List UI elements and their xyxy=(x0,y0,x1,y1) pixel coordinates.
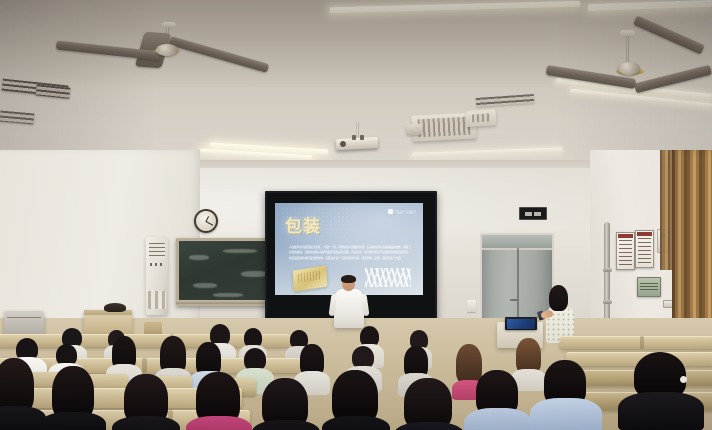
presentation-laptop[interactable] xyxy=(505,317,537,330)
desk-row xyxy=(560,336,712,349)
slide-logo-text: 产品设计 包装设计 xyxy=(394,210,416,214)
clock-hand-minute xyxy=(206,221,214,226)
notice-poster-left xyxy=(616,232,635,270)
chalk-smudge xyxy=(189,255,209,260)
ac-lower-grille xyxy=(148,291,166,309)
wall-green-sign xyxy=(637,277,661,297)
ac-vent-grille xyxy=(149,243,165,259)
exit-sign xyxy=(519,207,547,220)
student-hair xyxy=(456,344,482,384)
desk-seam xyxy=(640,336,644,349)
female-staff-at-podium xyxy=(545,285,575,343)
student-torso xyxy=(322,416,390,430)
light-switch-plate[interactable] xyxy=(467,300,476,312)
desk-seam xyxy=(142,358,147,373)
chalk-smudge xyxy=(213,293,243,297)
slide-body-text: 人类最早的包装源自自然界，"包装"一词，早期是指人造物的外面，后来逐渐成为包裹物… xyxy=(289,245,411,261)
cabinet-seam xyxy=(7,317,41,318)
slide-logo: 产品设计 包装设计 xyxy=(388,209,416,214)
male-speaker-white-polo xyxy=(332,276,366,328)
poster-header-band xyxy=(637,232,652,236)
student-torso xyxy=(40,412,106,430)
logo-mark-icon xyxy=(388,209,393,214)
poster-text-lines xyxy=(619,240,632,267)
speaker-hair xyxy=(341,275,356,283)
student-torso xyxy=(618,392,704,430)
ac-control-panel xyxy=(150,263,164,266)
student-torso xyxy=(112,416,180,430)
exit-sign-glyph xyxy=(534,212,541,216)
pipe-clamp xyxy=(603,268,612,272)
abstract-line-graphic xyxy=(365,268,411,287)
dark-object-on-box xyxy=(104,303,126,312)
speaker-torso xyxy=(334,289,364,328)
chalk-smudge xyxy=(193,283,217,288)
sign-text-lines xyxy=(640,283,658,290)
laptop-screen xyxy=(507,319,535,329)
poster-header-band xyxy=(618,234,633,238)
wall-clock xyxy=(194,209,218,233)
earbud-icon xyxy=(680,376,687,383)
student-torso xyxy=(186,416,252,430)
exit-sign-glyph xyxy=(525,212,532,216)
cardboard-package-illustration xyxy=(293,265,328,291)
wall-air-conditioner xyxy=(146,237,168,315)
student-torso xyxy=(464,408,532,430)
staff-hair xyxy=(549,285,568,311)
notice-poster-right xyxy=(635,230,654,268)
poster-text-lines xyxy=(638,238,651,265)
chalk-smudge xyxy=(223,249,257,253)
student-torso xyxy=(530,398,602,430)
pipe-clamp xyxy=(603,300,612,304)
slide-title: 包装 xyxy=(285,219,321,236)
lecture-hall-photo: 产品设计 包装设计 包装 人类最早的包装源自自然界，"包装"一词，早期是指人造物… xyxy=(0,0,712,430)
door-handle[interactable] xyxy=(510,299,518,301)
